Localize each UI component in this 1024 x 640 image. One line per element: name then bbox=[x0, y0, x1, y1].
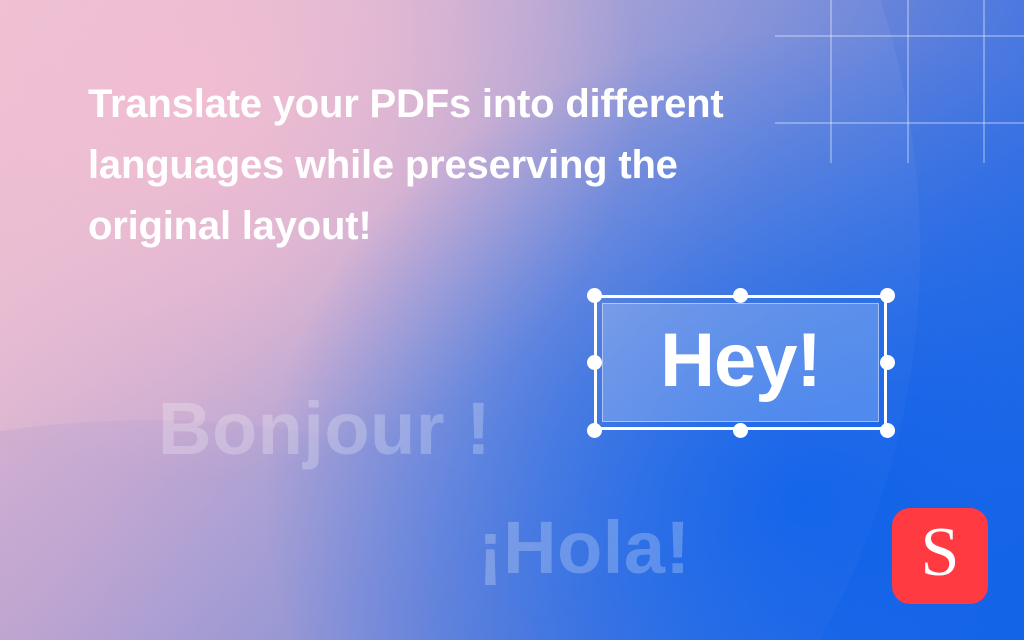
resize-handle-bottom-right[interactable] bbox=[880, 423, 895, 438]
ghost-text-french: Bonjour ! bbox=[158, 386, 491, 472]
resize-handle-top-left[interactable] bbox=[587, 288, 602, 303]
resize-handle-middle-left[interactable] bbox=[587, 355, 602, 370]
promo-banner: Translate your PDFs into different langu… bbox=[0, 0, 1024, 640]
ghost-text-spanish: ¡Hola! bbox=[478, 505, 691, 591]
brand-logo-badge: S bbox=[892, 508, 988, 604]
selected-text-box[interactable]: Hey! bbox=[594, 295, 887, 430]
resize-handle-bottom-left[interactable] bbox=[587, 423, 602, 438]
page-title: Translate your PDFs into different langu… bbox=[88, 74, 788, 257]
text-box-content[interactable]: Hey! bbox=[594, 295, 887, 430]
resize-handle-top-right[interactable] bbox=[880, 288, 895, 303]
resize-handle-middle-right[interactable] bbox=[880, 355, 895, 370]
brand-letter-s-icon: S bbox=[921, 518, 960, 594]
resize-handle-bottom-center[interactable] bbox=[733, 423, 748, 438]
resize-handle-top-center[interactable] bbox=[733, 288, 748, 303]
